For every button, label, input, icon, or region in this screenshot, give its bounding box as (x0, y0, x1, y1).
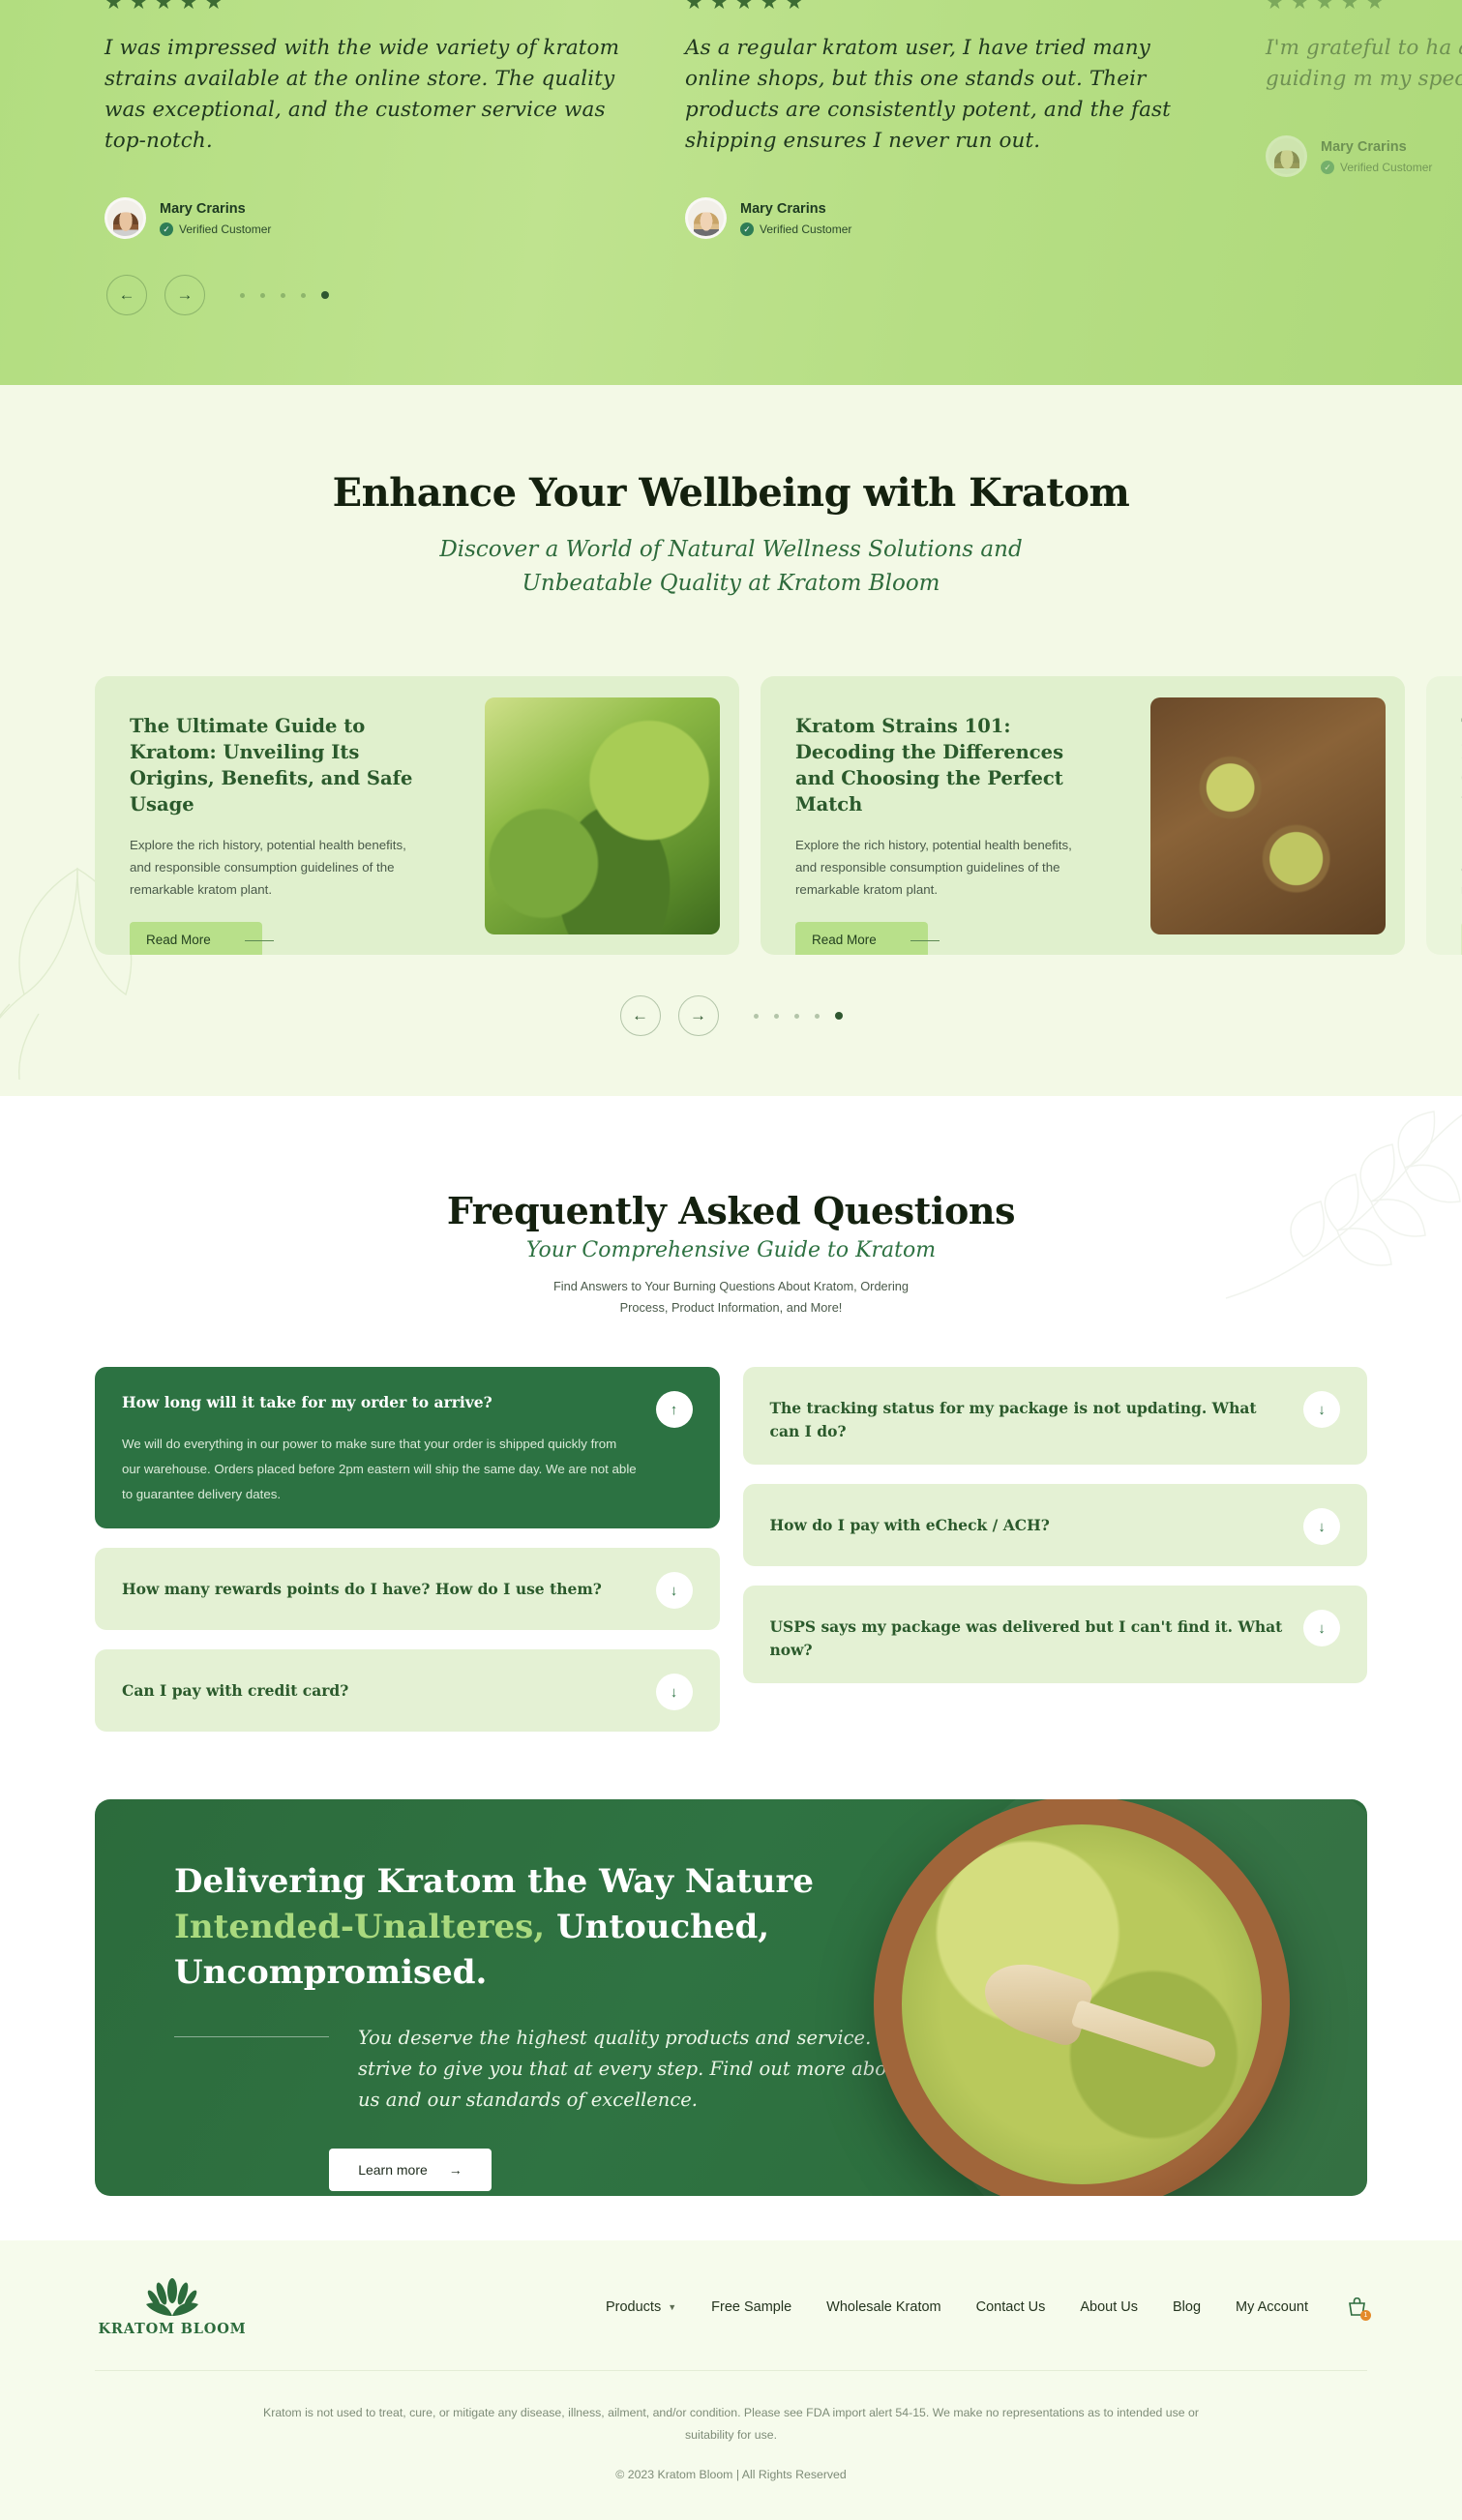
testimonial-author: Mary Crarins ✓ Verified Customer (685, 197, 1208, 239)
faq-item-body: The tracking status for my package is no… (770, 1388, 1287, 1443)
chevron-down-icon: ▼ (668, 2302, 676, 2312)
avatar (1266, 135, 1307, 177)
cart-count-badge: 1 (1360, 2310, 1371, 2321)
faq-item-body: Can I pay with credit card? (122, 1671, 639, 1703)
star-icon: ★ (785, 0, 803, 15)
testimonial-author: Mary Crarins ✓ Verified Customer (104, 197, 627, 239)
carousel-dot[interactable] (281, 293, 285, 298)
nav-link-my-account[interactable]: My Account (1236, 2299, 1308, 2315)
blog-card[interactable]: Kratom Strains 101: Decoding the Differe… (761, 676, 1405, 955)
avatar (104, 197, 146, 239)
footer-navigation: Products ▼ Free Sample Wholesale Kratom … (606, 2298, 1367, 2318)
star-icon: ★ (710, 0, 729, 15)
carousel-dots (754, 1012, 843, 1020)
faq-item[interactable]: USPS says my package was delivered but I… (743, 1586, 1368, 1683)
kratom-bowl-image (845, 1799, 1319, 2196)
nav-link-label: Products (606, 2299, 661, 2315)
testimonial-author: Mary Crarins ✓ Verified Customer (1266, 135, 1462, 177)
blog-card[interactable]: The Ultimate Guide to Kratom: Unveiling … (1426, 676, 1462, 955)
cart-icon[interactable]: 1 (1347, 2298, 1367, 2318)
blog-card-description: Explore the rich history, potential heal… (795, 834, 1086, 901)
wellbeing-section: Enhance Your Wellbeing with Kratom Disco… (0, 385, 1462, 1096)
faq-item-body: How do I pay with eCheck / ACH? (770, 1505, 1287, 1537)
faq-item[interactable]: Can I pay with credit card? ↓ (95, 1649, 720, 1732)
testimonial-quote: I'm grateful to ha are affordable, an he… (1266, 33, 1462, 95)
verified-badge: ✓ Verified Customer (160, 222, 271, 236)
faq-question: Can I pay with credit card? (122, 1671, 639, 1703)
testimonial-quote: As a regular kratom user, I have tried m… (685, 33, 1208, 157)
faq-question: How do I pay with eCheck / ACH? (770, 1505, 1287, 1537)
check-icon: ✓ (1321, 161, 1334, 174)
verified-label: Verified Customer (179, 222, 271, 236)
faq-answer: We will do everything in our power to ma… (122, 1432, 639, 1507)
lotus-logo-icon (136, 2277, 208, 2318)
carousel-next-button[interactable]: → (164, 275, 205, 315)
faq-column-left: How long will it take for my order to ar… (95, 1367, 720, 1732)
testimonial-author-name: Mary Crarins (160, 200, 271, 220)
faq-item-body: How many rewards points do I have? How d… (122, 1569, 639, 1601)
verified-label: Verified Customer (760, 222, 851, 236)
faq-subtitle: Your Comprehensive Guide to Kratom (0, 1238, 1462, 1262)
carousel-dots (240, 291, 329, 299)
read-more-button[interactable]: Read More (130, 922, 262, 955)
faq-item-expanded[interactable]: How long will it take for my order to ar… (95, 1367, 720, 1528)
footer-copyright: © 2023 Kratom Bloom | All Rights Reserve… (252, 2468, 1210, 2481)
learn-more-label: Learn more (358, 2162, 428, 2178)
faq-item-body: How long will it take for my order to ar… (122, 1388, 639, 1507)
page-root: ★ ★ ★ ★ ★ I was impressed with the wide … (0, 0, 1462, 2520)
star-icon: ★ (155, 0, 173, 15)
footer-bottom: Kratom is not used to treat, cure, or mi… (0, 2371, 1462, 2520)
faq-item[interactable]: How do I pay with eCheck / ACH? ↓ (743, 1484, 1368, 1566)
cta-wrapper: Delivering Kratom the Way Nature Intende… (0, 1799, 1462, 2196)
faq-lead-line-1: Find Answers to Your Burning Questions A… (0, 1276, 1462, 1297)
nav-link-contact-us[interactable]: Contact Us (976, 2299, 1046, 2315)
faq-grid: How long will it take for my order to ar… (0, 1367, 1462, 1732)
star-icon: ★ (204, 0, 223, 15)
star-icon: ★ (1365, 0, 1384, 15)
chevron-down-icon[interactable]: ↓ (1303, 1508, 1340, 1545)
testimonial-card: ★ ★ ★ ★ ★ As a regular kratom user, I ha… (685, 0, 1266, 239)
star-icon: ★ (760, 0, 778, 15)
star-icon: ★ (1340, 0, 1358, 15)
cta-heading-line-2-rest: Untouched, (545, 1908, 769, 1946)
cta-banner: Delivering Kratom the Way Nature Intende… (95, 1799, 1367, 2196)
footer-disclaimer: Kratom is not used to treat, cure, or mi… (252, 2402, 1210, 2446)
blog-carousel-controls: ← → (0, 995, 1462, 1036)
carousel-dot[interactable] (301, 293, 306, 298)
testimonial-author-name: Mary Crarins (1321, 138, 1432, 158)
star-icon: ★ (735, 0, 754, 15)
faq-title: Frequently Asked Questions (0, 1189, 1462, 1232)
chevron-down-icon[interactable]: ↓ (1303, 1391, 1340, 1428)
testimonials-carousel-controls: ← → (106, 275, 329, 315)
nav-link-wholesale-kratom[interactable]: Wholesale Kratom (826, 2299, 940, 2315)
carousel-prev-button[interactable]: ← (620, 995, 661, 1036)
carousel-dot[interactable] (754, 1014, 759, 1019)
cta-heading-line-3: Uncompromised. (174, 1953, 487, 1992)
carousel-next-button[interactable]: → (678, 995, 719, 1036)
testimonials-section: ★ ★ ★ ★ ★ I was impressed with the wide … (0, 0, 1462, 385)
carousel-dot[interactable] (815, 1014, 820, 1019)
faq-lead: Find Answers to Your Burning Questions A… (0, 1276, 1462, 1319)
testimonial-card: ★ ★ ★ ★ ★ I'm grateful to ha are afforda… (1266, 0, 1462, 239)
cta-paragraph: You deserve the highest quality products… (329, 2023, 927, 2116)
nav-link-blog[interactable]: Blog (1173, 2299, 1201, 2315)
verified-badge: ✓ Verified Customer (1321, 161, 1432, 174)
cta-heading: Delivering Kratom the Way Nature Intende… (174, 1859, 927, 1996)
faq-question: USPS says my package was delivered but I… (770, 1607, 1287, 1662)
avatar (685, 197, 727, 239)
chevron-down-icon[interactable]: ↓ (1303, 1610, 1340, 1646)
subtitle-line-2: Unbeatable Quality at Kratom Bloom (0, 567, 1462, 601)
blog-card-image (1150, 697, 1386, 934)
subtitle-line-1: Discover a World of Natural Wellness Sol… (0, 533, 1462, 567)
cta-heading-highlight: Intended-Unalteres, (174, 1908, 545, 1946)
arrow-right-icon: → (449, 2162, 462, 2178)
star-icon: ★ (1291, 0, 1309, 15)
cta-paragraph-row: You deserve the highest quality products… (174, 2023, 927, 2116)
star-icon: ★ (104, 0, 123, 15)
carousel-dot[interactable] (260, 293, 265, 298)
check-icon: ✓ (160, 222, 173, 236)
faq-lead-line-2: Process, Product Information, and More! (0, 1297, 1462, 1319)
star-icon: ★ (1316, 0, 1334, 15)
testimonial-quote: I was impressed with the wide variety of… (104, 33, 627, 157)
blog-card-title: The Ultimate Guide to Kratom: Unveiling … (130, 713, 420, 817)
rating-stars: ★ ★ ★ ★ ★ (1266, 0, 1462, 15)
read-more-button[interactable]: Read More (795, 922, 928, 955)
blog-card-image (485, 697, 720, 934)
section-title: Enhance Your Wellbeing with Kratom (0, 470, 1462, 516)
testimonial-card: ★ ★ ★ ★ ★ I was impressed with the wide … (104, 0, 685, 239)
nav-link-products[interactable]: Products ▼ (606, 2299, 676, 2315)
rating-stars: ★ ★ ★ ★ ★ (685, 0, 1208, 15)
faq-item-body: USPS says my package was delivered but I… (770, 1607, 1287, 1662)
faq-section: Frequently Asked Questions Your Comprehe… (0, 1096, 1462, 1799)
blog-card[interactable]: The Ultimate Guide to Kratom: Unveiling … (95, 676, 739, 955)
cta-heading-line-1: Delivering Kratom the Way Nature (174, 1862, 814, 1901)
carousel-dot-active[interactable] (835, 1012, 843, 1020)
chevron-down-icon[interactable]: ↓ (656, 1572, 693, 1609)
cta-content: Delivering Kratom the Way Nature Intende… (95, 1799, 927, 2191)
blog-card-content: Kratom Strains 101: Decoding the Differe… (761, 676, 1086, 955)
rating-stars: ★ ★ ★ ★ ★ (104, 0, 627, 15)
blog-carousel-track[interactable]: The Ultimate Guide to Kratom: Unveiling … (0, 676, 1462, 955)
blog-card-content: The Ultimate Guide to Kratom: Unveiling … (95, 676, 420, 955)
carousel-dot[interactable] (794, 1014, 799, 1019)
testimonial-author-name: Mary Crarins (740, 200, 851, 220)
chevron-down-icon[interactable]: ↓ (656, 1674, 693, 1710)
blog-card-title: Kratom Strains 101: Decoding the Differe… (795, 713, 1086, 817)
nav-link-about-us[interactable]: About Us (1080, 2299, 1138, 2315)
carousel-dot[interactable] (240, 293, 245, 298)
check-icon: ✓ (740, 222, 754, 236)
faq-question: How long will it take for my order to ar… (122, 1388, 639, 1414)
carousel-prev-button[interactable]: ← (106, 275, 147, 315)
faq-column-right: The tracking status for my package is no… (743, 1367, 1368, 1683)
star-icon: ★ (179, 0, 197, 15)
verified-badge: ✓ Verified Customer (740, 222, 851, 236)
section-subtitle: Discover a World of Natural Wellness Sol… (0, 533, 1462, 601)
divider-rule (174, 2036, 329, 2037)
faq-item[interactable]: The tracking status for my package is no… (743, 1367, 1368, 1465)
blog-card-content: The Ultimate Guide to Kratom: Unveiling … (1426, 676, 1462, 955)
blog-card-description: Explore the rich history, potential heal… (130, 834, 420, 901)
learn-more-button[interactable]: Learn more → (329, 2149, 492, 2191)
star-icon: ★ (685, 0, 703, 15)
faq-question: How many rewards points do I have? How d… (122, 1569, 639, 1601)
chevron-up-icon[interactable]: ↑ (656, 1391, 693, 1428)
footer-top: KRATOM BLOOM Products ▼ Free Sample Whol… (0, 2277, 1462, 2370)
star-icon: ★ (130, 0, 148, 15)
brand-logo-text: KRATOM BLOOM (99, 2321, 247, 2337)
carousel-dot-active[interactable] (321, 291, 329, 299)
site-footer: KRATOM BLOOM Products ▼ Free Sample Whol… (0, 2240, 1462, 2520)
star-icon: ★ (1266, 0, 1284, 15)
faq-item[interactable]: How many rewards points do I have? How d… (95, 1548, 720, 1630)
faq-question: The tracking status for my package is no… (770, 1388, 1287, 1443)
testimonials-carousel-track[interactable]: ★ ★ ★ ★ ★ I was impressed with the wide … (0, 0, 1462, 239)
verified-label: Verified Customer (1340, 161, 1432, 174)
brand-logo[interactable]: KRATOM BLOOM (95, 2277, 250, 2337)
nav-link-free-sample[interactable]: Free Sample (711, 2299, 791, 2315)
carousel-dot[interactable] (774, 1014, 779, 1019)
